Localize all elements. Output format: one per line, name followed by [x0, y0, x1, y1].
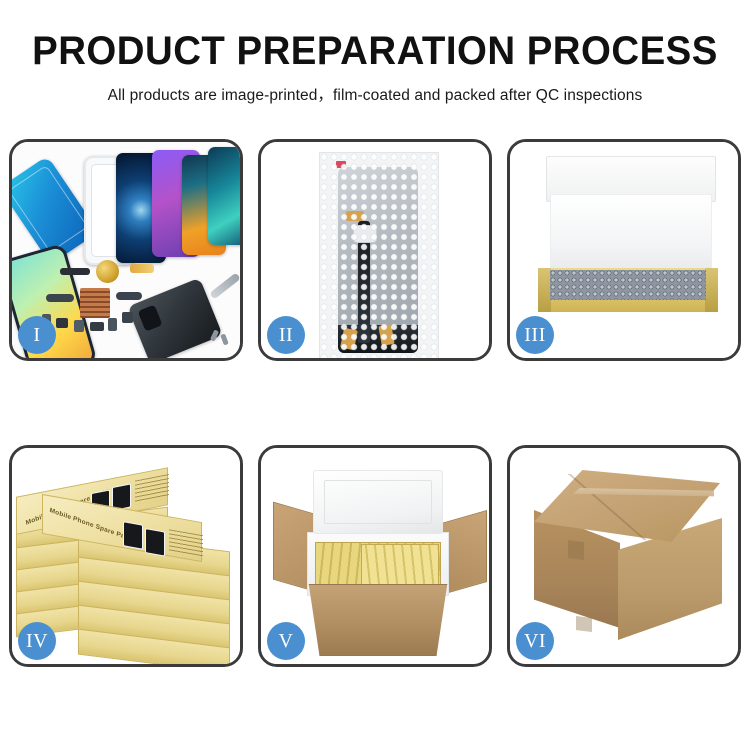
yellow-boxes-inside-row2 [361, 544, 439, 586]
step-badge-6: VI [516, 622, 554, 660]
small-component-5 [108, 318, 117, 331]
foam-sheet [550, 194, 712, 274]
small-component-4 [90, 322, 104, 331]
carton-handle-notch-2 [576, 616, 592, 632]
flex-cable-gold [130, 264, 154, 273]
process-step-6: VI [507, 445, 741, 667]
carton-body [301, 584, 455, 656]
small-component-6 [122, 312, 133, 323]
process-step-4: Mobile Phone Spare Parts Mobile Phone Sp… [9, 445, 243, 667]
flex-cable-part-b [116, 292, 142, 300]
process-step-1: I [9, 139, 243, 361]
phone-screen-teal [208, 147, 240, 245]
box-print-speclist-front [169, 529, 203, 559]
page-subtitle: All products are image-printed，film-coat… [0, 83, 750, 105]
box-print-screen-d [145, 528, 165, 557]
small-component-3 [74, 320, 84, 332]
box-side-right [705, 268, 718, 312]
foam-lid-open [313, 470, 443, 534]
page-title: PRODUCT PREPARATION PROCESS [15, 30, 735, 72]
vibration-motor-part [96, 260, 119, 283]
step-badge-1: I [18, 316, 56, 354]
process-step-3: III [507, 139, 741, 361]
process-step-grid: I II [9, 139, 741, 667]
process-step-5: V [258, 445, 492, 667]
connector-board-part [80, 288, 110, 318]
process-step-2: II [258, 139, 492, 361]
step-badge-2: II [267, 316, 305, 354]
earpiece-speaker-part [60, 268, 90, 275]
bubble-wrap-texture [320, 153, 438, 358]
step-badge-5: V [267, 622, 305, 660]
bubble-wrap-bag [319, 152, 439, 358]
header: PRODUCT PREPARATION PROCESS All products… [0, 0, 750, 105]
box-print-speclist-rear [135, 474, 169, 505]
small-component-2 [56, 318, 68, 328]
step-badge-3: III [516, 316, 554, 354]
box-print-screen-c [123, 521, 143, 550]
step-badge-4: IV [18, 622, 56, 660]
flex-cable-part-a [46, 294, 74, 302]
bubble-wrapped-contents [550, 270, 706, 300]
carton-handle-notch-1 [568, 540, 584, 560]
